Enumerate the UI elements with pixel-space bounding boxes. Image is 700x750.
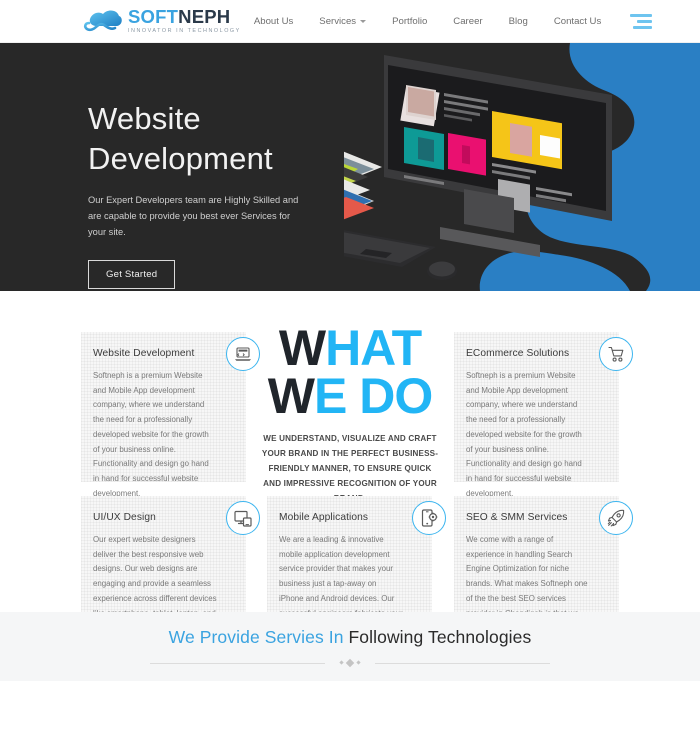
service-card-website-development[interactable]: Website Development Softneph is a premiu… [81, 332, 246, 482]
logo-tagline: INNOVATOR IN TECHNOLOGY [128, 29, 241, 34]
desktop-monitor [384, 55, 612, 257]
nav-item-career[interactable]: Career [440, 16, 495, 27]
service-card-mobile-applications[interactable]: Mobile Applications We are a leading & i… [267, 496, 432, 631]
service-card-body: Softneph is a premium Website and Mobile… [466, 369, 590, 501]
technologies-section: We Provide Servies In Following Technolo… [0, 612, 700, 681]
page-root: SOFTNEPH INNOVATOR IN TECHNOLOGY About U… [0, 0, 700, 750]
service-card-title: Website Development [93, 348, 232, 359]
service-card-seo-smm-services[interactable]: SEO & SMM Services We come with a range … [454, 496, 619, 631]
mobile-gear-icon [412, 501, 446, 535]
infinity-cloud-logo-icon [83, 8, 123, 34]
chevron-down-icon [360, 20, 366, 23]
hamburger-line [630, 14, 652, 17]
nav-label: Services [319, 16, 356, 27]
responsive-devices-icon [226, 501, 260, 535]
heading-segment: W [268, 368, 314, 424]
service-card-title: UI/UX Design [93, 512, 232, 523]
logo[interactable]: SOFTNEPH INNOVATOR IN TECHNOLOGY [83, 7, 241, 34]
technologies-title-dark: Following Technologies [349, 627, 532, 647]
technologies-title: We Provide Servies In Following Technolo… [169, 627, 532, 648]
divider-dot [356, 660, 360, 664]
nav-item-services[interactable]: Services [306, 16, 379, 27]
nav-item-blog[interactable]: Blog [496, 16, 541, 27]
what-we-do-line1: WHAT [259, 324, 441, 372]
hero-content: Website Development Our Expert Developer… [88, 99, 388, 289]
nav-label: Blog [509, 16, 528, 27]
nav-item-contact-us[interactable]: Contact Us [541, 16, 614, 27]
rocket-icon [599, 501, 633, 535]
nav-label: Career [453, 16, 482, 27]
divider-dot [339, 660, 343, 664]
logo-name-part1: SOFT [128, 6, 178, 27]
nav-item-about-us[interactable]: About Us [241, 16, 306, 27]
mouse [427, 262, 457, 281]
logo-text: SOFTNEPH INNOVATOR IN TECHNOLOGY [128, 7, 241, 34]
get-started-button[interactable]: Get Started [88, 260, 175, 289]
services-section: WHAT WE DO WE UNDERSTAND, VISUALIZE AND … [0, 291, 700, 681]
main-navigation: About Us Services Portfolio Career Blog … [241, 16, 614, 27]
service-card-body: Softneph is a premium Website and Mobile… [93, 369, 217, 501]
hero-title: Website Development [88, 99, 388, 178]
hero-title-line2: Development [88, 141, 273, 176]
nav-item-portfolio[interactable]: Portfolio [379, 16, 440, 27]
hero-illustration [344, 51, 694, 291]
service-card-ecommerce-solutions[interactable]: ECommerce Solutions Softneph is a premiu… [454, 332, 619, 482]
hamburger-line [637, 20, 652, 23]
shopping-cart-icon [599, 337, 633, 371]
what-we-do-heading: WHAT WE DO WE UNDERSTAND, VISUALIZE AND … [259, 324, 441, 507]
hamburger-menu-icon[interactable] [630, 14, 652, 29]
laptop-code-icon [226, 337, 260, 371]
service-card-title: ECommerce Solutions [466, 348, 605, 359]
hero-subtitle: Our Expert Developers team are Highly Sk… [88, 193, 300, 241]
logo-name-part2: NEPH [178, 6, 230, 27]
heading-segment: E DO [314, 368, 432, 424]
service-card-title: Mobile Applications [279, 512, 418, 523]
nav-label: About Us [254, 16, 293, 27]
service-card-ui-ux-design[interactable]: UI/UX Design Our expert website designer… [81, 496, 246, 631]
what-we-do-line2: WE DO [259, 372, 441, 420]
site-header: SOFTNEPH INNOVATOR IN TECHNOLOGY About U… [0, 0, 700, 43]
nav-label: Contact Us [554, 16, 601, 27]
hero-title-line1: Website [88, 101, 201, 136]
divider-dot [346, 658, 354, 666]
hero-banner: Website Development Our Expert Developer… [0, 43, 700, 291]
hamburger-line [633, 26, 652, 29]
technologies-title-blue: We Provide Servies In [169, 627, 344, 647]
nav-label: Portfolio [392, 16, 427, 27]
decorative-divider [150, 659, 550, 666]
service-card-title: SEO & SMM Services [466, 512, 605, 523]
